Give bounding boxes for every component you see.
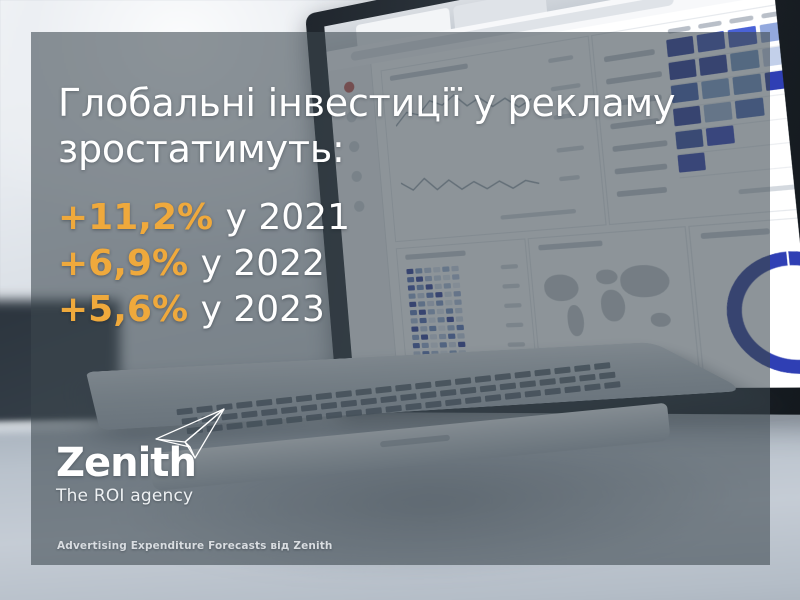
heatmap-col-header	[761, 10, 786, 19]
stats-list: +11,2% у 2021 +6,9% у 2022 +5,6% у 2023	[58, 195, 350, 333]
paper-plane-icon	[154, 406, 228, 460]
stat-row: +6,9% у 2022	[58, 241, 350, 287]
heatmap-cell	[795, 40, 800, 63]
stat-percent: +11,2%	[58, 197, 213, 238]
stat-year: у 2023	[201, 289, 325, 330]
heatmap-col-header	[698, 20, 722, 28]
logo-tagline: The ROI agency	[56, 486, 196, 506]
content-layer: Глобальні інвестиції у рекламу зростатим…	[31, 32, 770, 565]
page-title: Глобальні інвестиції у рекламу зростатим…	[58, 80, 748, 172]
stat-year: у 2021	[226, 197, 350, 238]
stat-row: +5,6% у 2023	[58, 287, 350, 333]
stat-percent: +6,9%	[58, 243, 188, 284]
stat-year: у 2022	[201, 243, 325, 284]
stat-percent: +5,6%	[58, 289, 188, 330]
heatmap-cell	[793, 15, 800, 38]
stat-row: +11,2% у 2021	[58, 195, 350, 241]
heatmap-col-header	[729, 15, 753, 24]
heatmap-col-header	[794, 4, 800, 13]
zenith-logo: Zenith The ROI agency	[56, 442, 196, 506]
infographic-canvas: ☆	[0, 0, 800, 600]
source-footnote: Advertising Expenditure Forecasts від Ze…	[57, 540, 333, 552]
